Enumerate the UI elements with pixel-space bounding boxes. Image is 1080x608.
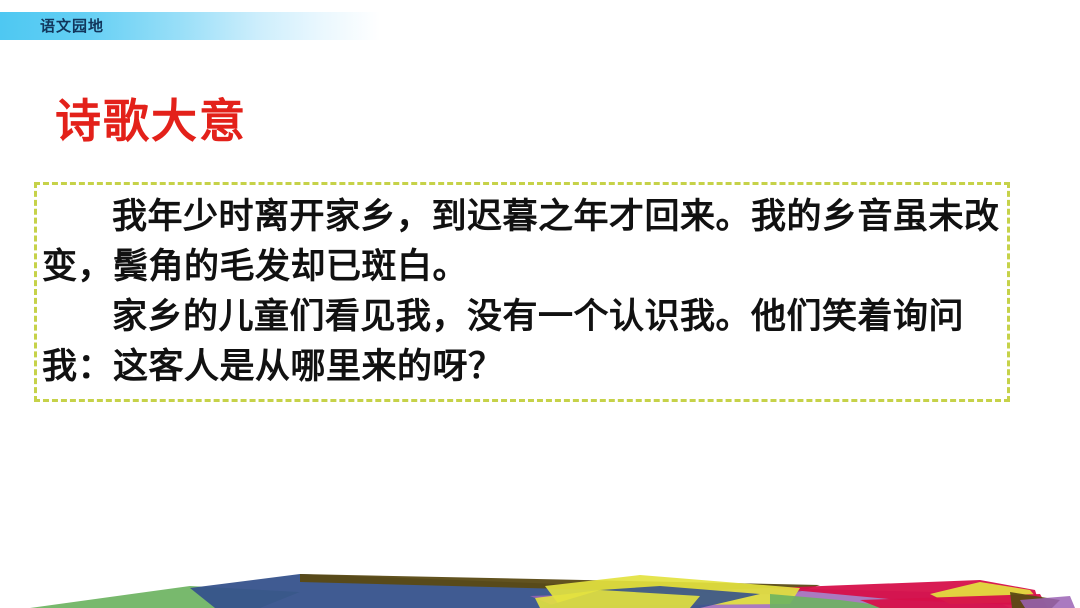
- passage-paragraph-1: 我年少时离开家乡，到迟暮之年才回来。我的乡音虽未改变，鬓角的毛发却已斑白。: [42, 192, 1010, 292]
- crimson-right-wedge: [770, 580, 1040, 606]
- footer-decoration: [0, 538, 1080, 608]
- page-title: 诗歌大意: [55, 98, 247, 144]
- olive-far-right-corner: [1010, 592, 1060, 608]
- yellow-right-peak: [535, 590, 700, 608]
- passage-text-container: 我年少时离开家乡，到迟暮之年才回来。我的乡音虽未改变，鬓角的毛发却已斑白。 家乡…: [36, 186, 1014, 400]
- passage-paragraph-2: 家乡的儿童们看见我，没有一个认识我。他们笑着询问我：这客人是从哪里来的呀？: [42, 292, 1010, 392]
- yellow-far-right-peak: [930, 582, 1040, 604]
- crimson-far-right-band: [860, 594, 1048, 608]
- purple-center-wedge: [530, 588, 1010, 608]
- slide-canvas: 语文园地 诗歌大意 我年少时离开家乡，到迟暮之年才回来。我的乡音虽未改变，鬓角的…: [0, 0, 1080, 608]
- yellow-center-peak: [545, 575, 800, 606]
- header-title: 语文园地: [40, 13, 104, 39]
- navy-right-peak: [540, 586, 760, 608]
- navy-left-wedge: [190, 574, 640, 608]
- green-right-wedge: [770, 594, 900, 608]
- green-left-wedge: [30, 586, 300, 608]
- purple-far-right-tip: [1020, 596, 1075, 608]
- olive-center-band: [300, 574, 820, 595]
